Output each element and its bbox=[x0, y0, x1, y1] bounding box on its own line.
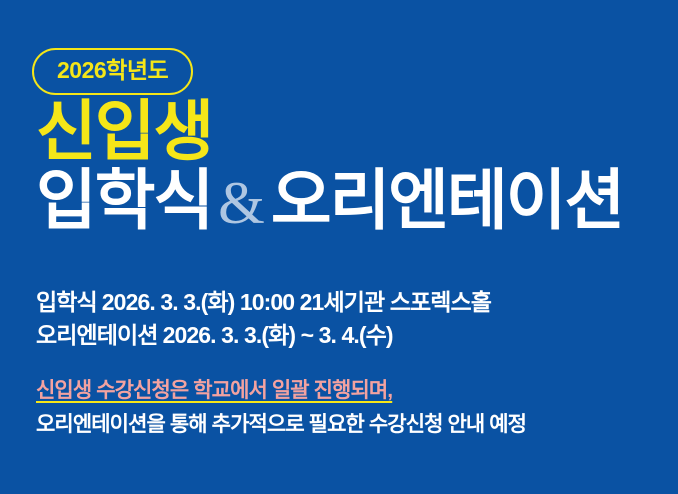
note-row-highlight: 신입생 수강신청은 학교에서 일괄 진행되며, bbox=[36, 374, 656, 408]
headline-line-2: 입학식&오리엔테이션 bbox=[36, 169, 656, 233]
headline-event-orientation: 오리엔테이션 bbox=[271, 163, 623, 237]
headline-block: 신입생 입학식&오리엔테이션 bbox=[36, 100, 656, 233]
schedule-row-orientation: 오리엔테이션2026. 3. 3.(화) ~ 3. 4.(수) bbox=[36, 319, 656, 352]
note-text-highlight: 신입생 수강신청은 학교에서 일괄 진행되며, bbox=[36, 379, 392, 402]
academic-year-badge-row: 2026학년도 bbox=[32, 48, 193, 95]
ampersand-symbol: & bbox=[212, 170, 271, 236]
schedule-value-orientation: 2026. 3. 3.(화) ~ 3. 4.(수) bbox=[163, 322, 393, 348]
announcement-poster: 2026학년도 신입생 입학식&오리엔테이션 입학식2026. 3. 3.(화)… bbox=[0, 0, 678, 494]
schedule-label-orientation: 오리엔테이션 bbox=[36, 322, 158, 348]
headline-event-ceremony: 입학식 bbox=[36, 163, 212, 237]
notes-block: 신입생 수강신청은 학교에서 일괄 진행되며, 오리엔테이션을 통해 추가적으로… bbox=[36, 374, 656, 442]
academic-year-badge: 2026학년도 bbox=[32, 48, 193, 95]
note-text-plain: 오리엔테이션을 통해 추가적으로 필요한 수강신청 안내 예정 bbox=[36, 408, 656, 442]
schedule-info-block: 입학식2026. 3. 3.(화) 10:00 21세기관 스포렉스홀 오리엔테… bbox=[36, 286, 656, 351]
headline-line-1: 신입생 bbox=[36, 100, 656, 163]
schedule-row-ceremony: 입학식2026. 3. 3.(화) 10:00 21세기관 스포렉스홀 bbox=[36, 286, 656, 319]
schedule-label-ceremony: 입학식 bbox=[36, 289, 97, 315]
schedule-value-ceremony: 2026. 3. 3.(화) 10:00 21세기관 스포렉스홀 bbox=[102, 289, 491, 315]
